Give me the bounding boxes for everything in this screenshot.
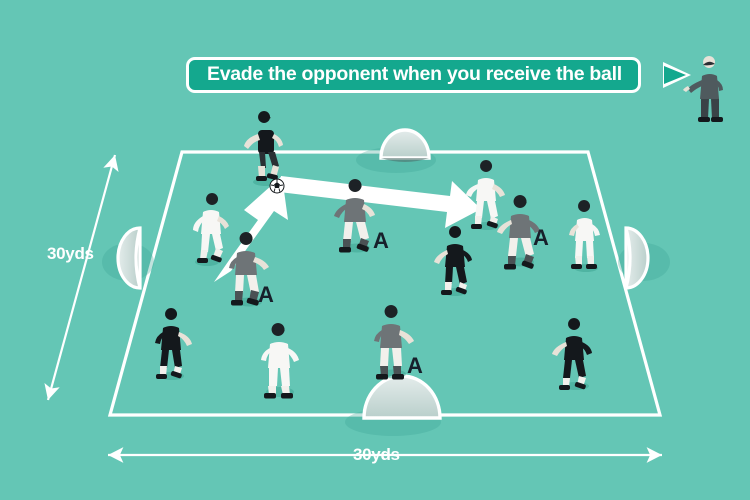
dimension-left-label: 30yds [47, 244, 94, 264]
player-label-grey-center: A [373, 228, 389, 254]
training-diagram: Evade the opponent when you receive the … [0, 0, 750, 500]
player-white-left [193, 193, 229, 263]
player-shadows [160, 178, 598, 397]
dimension-bottom-label: 30yds [353, 445, 400, 465]
player-ball-carrier [244, 111, 283, 181]
player-black-bottom-left [155, 308, 192, 379]
instruction-text: Evade the opponent when you receive the … [207, 65, 622, 85]
player-label-grey-left: A [258, 282, 274, 308]
banner-tail [664, 66, 686, 84]
player-dark-center [434, 226, 472, 295]
soccer-ball [270, 179, 284, 193]
player-label-grey-right: A [533, 225, 549, 251]
goal-top-icon [381, 130, 429, 162]
player-label-grey-bottom: A [407, 353, 423, 379]
player-white-right [466, 160, 505, 229]
arrow-pass [279, 176, 481, 228]
goal-bottom-icon [364, 376, 440, 418]
player-black-bottom-right [552, 318, 592, 390]
dimension-left [48, 155, 115, 400]
player-white-far-right [569, 200, 600, 269]
instruction-banner: Evade the opponent when you receive the … [186, 57, 641, 93]
